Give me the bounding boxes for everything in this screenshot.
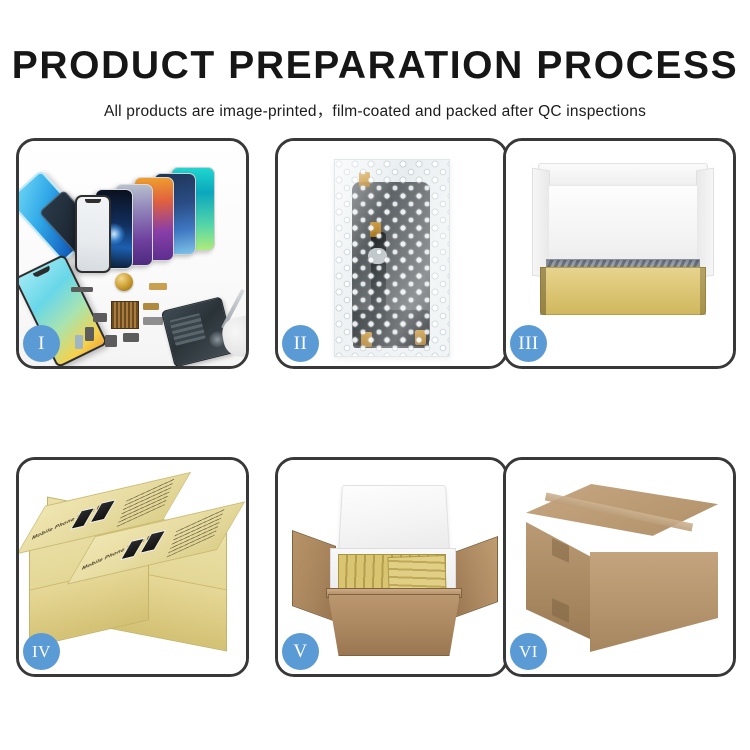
box-edge-left	[540, 267, 546, 315]
step-2-illustration: II	[278, 141, 505, 366]
part-block-1	[93, 313, 107, 322]
process-step-grid: I II	[16, 138, 736, 678]
page-subtitle: All products are image-printed，film-coat…	[0, 85, 750, 121]
part-block-4	[123, 333, 139, 342]
part-strip-1	[71, 287, 93, 292]
speaker-coin-part	[115, 273, 133, 291]
plastic-sheen	[335, 160, 449, 356]
carton-right-face	[590, 552, 718, 652]
part-sim-tray	[75, 335, 83, 349]
styrofoam-lid	[338, 485, 450, 555]
carton-left-face	[526, 522, 592, 640]
step-3-illustration: III	[506, 141, 733, 366]
bubble-wrap-bag	[334, 159, 450, 357]
carton-flap-right	[454, 536, 498, 618]
stacked-kraft-boxes: Mobile Phone Spare Parts Mobile Phone Sp…	[29, 478, 244, 664]
part-flex-2	[143, 303, 159, 310]
part-strip-2	[149, 283, 167, 290]
step-1-illustration: I	[19, 141, 246, 366]
process-step-4[interactable]: Mobile Phone Spare Parts Mobile Phone Sp…	[16, 457, 249, 677]
box-spec-text-2	[167, 508, 225, 557]
step-badge-6: VI	[510, 633, 547, 670]
process-step-3[interactable]: III	[503, 138, 736, 369]
step-badge-1: I	[23, 325, 60, 362]
step-badge-2: II	[282, 325, 319, 362]
open-shipping-carton	[292, 482, 498, 660]
open-kraft-box	[532, 163, 714, 333]
process-step-1[interactable]: I	[16, 138, 249, 369]
header: PRODUCT PREPARATION PROCESS All products…	[0, 0, 750, 121]
spare-parts-group	[71, 269, 249, 365]
sealed-carton	[526, 484, 718, 652]
tempered-glass-front	[75, 195, 111, 273]
step-badge-4: IV	[23, 633, 60, 670]
product-preparation-infographic: PRODUCT PREPARATION PROCESS All products…	[0, 0, 750, 750]
process-step-6[interactable]: VI	[503, 457, 736, 677]
carton-front-panel	[328, 594, 460, 656]
part-block-3	[105, 335, 117, 347]
step-badge-3: III	[510, 325, 547, 362]
page-title: PRODUCT PREPARATION PROCESS	[0, 0, 750, 85]
process-step-2[interactable]: II	[275, 138, 508, 369]
box-edge-right	[700, 267, 706, 315]
step-badge-5: V	[282, 633, 319, 670]
step-6-illustration: VI	[506, 460, 733, 674]
part-block-2	[85, 327, 94, 341]
process-step-5[interactable]: V	[275, 457, 508, 677]
logic-board-chip	[111, 301, 139, 329]
step-4-illustration: Mobile Phone Spare Parts Mobile Phone Sp…	[19, 460, 246, 674]
step-5-illustration: V	[278, 460, 505, 674]
part-flex-1	[143, 317, 163, 325]
box-tray-front	[540, 267, 706, 315]
